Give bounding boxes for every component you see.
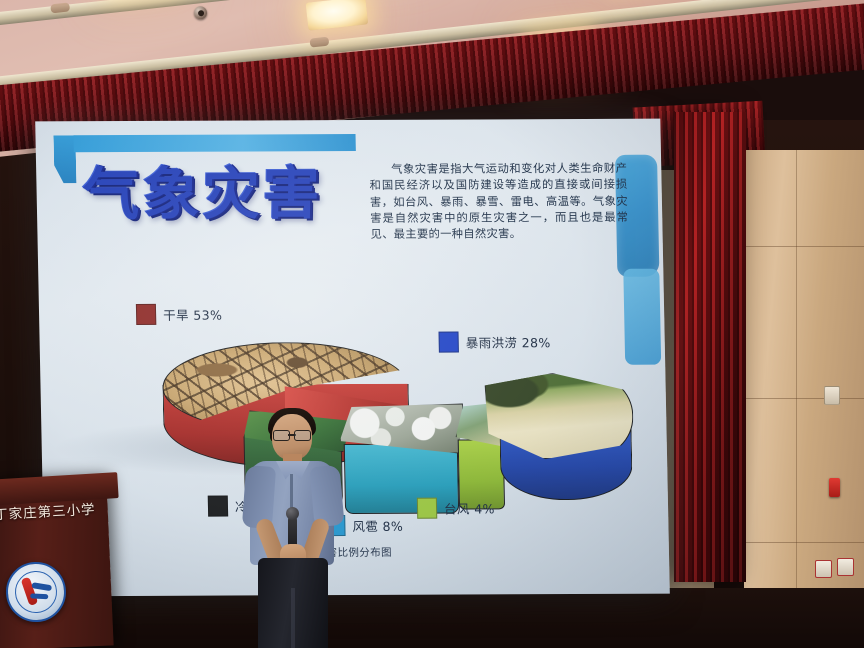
legend-item-drought: 干旱 53% xyxy=(136,304,223,325)
fire-alarm-box xyxy=(815,560,832,578)
legend-item-typhoon: 台风 4% xyxy=(417,497,495,518)
legend-label-drought: 干旱 53% xyxy=(163,305,223,324)
legend-item-flood: 暴雨洪涝 28% xyxy=(438,331,550,352)
legend-label-typhoon: 台风 4% xyxy=(444,498,495,517)
presenter-sleeve-left xyxy=(242,465,276,529)
fire-alarm-strobe xyxy=(829,478,840,497)
stage-floor xyxy=(0,588,864,648)
glasses-icon xyxy=(273,430,311,439)
slide-body-text: 气象灾害是指大气运动和变化对人类生命财产和国民经济以及国防建设等造成的直接或间接… xyxy=(369,161,629,244)
ceiling-light xyxy=(306,0,369,31)
projection-screen: 气象灾害 气象灾害是指大气运动和变化对人类生命财产和国民经济以及国防建设等造成的… xyxy=(35,119,670,597)
fire-alarm-box xyxy=(837,558,854,576)
legend-swatch-drought xyxy=(136,304,156,325)
slide-title: 气象灾害 xyxy=(82,148,323,231)
stage-curtain-right xyxy=(674,112,746,582)
legend-label-hail: 风雹 8% xyxy=(352,516,403,535)
legend-swatch-typhoon xyxy=(417,498,437,519)
legend-swatch-flood xyxy=(438,332,458,353)
legend-label-flood: 暴雨洪涝 28% xyxy=(466,332,551,351)
presenter-sleeve-right xyxy=(309,465,344,527)
light-switch-plate[interactable] xyxy=(824,386,840,405)
presenter-trousers xyxy=(258,558,328,648)
auditorium-scene: 气象灾害 气象灾害是指大气运动和变化对人类生命财产和国民经济以及国防建设等造成的… xyxy=(0,0,864,648)
presenter xyxy=(236,406,348,648)
legend-swatch-freeze xyxy=(208,496,228,517)
sprinkler-head xyxy=(193,6,207,20)
pie-geometry xyxy=(157,331,581,523)
